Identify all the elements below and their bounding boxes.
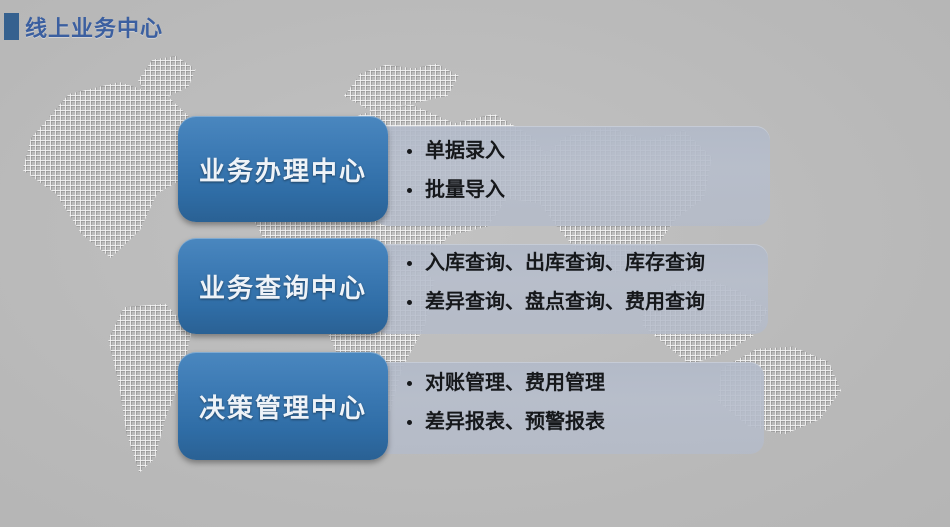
list-item: 单据录入 — [406, 138, 505, 164]
slide-title-bar: 线上业务中心 — [0, 0, 950, 54]
category-box-3[interactable]: 决策管理中心 — [178, 352, 388, 460]
title-accent-bar — [4, 13, 19, 40]
bullet-text: 对账管理、费用管理 — [425, 372, 605, 394]
bullet-list-2: 入库查询、出库查询、库存查询 差异查询、盘点查询、费用查询 — [406, 250, 705, 315]
bullet-dot-icon — [407, 420, 412, 425]
list-item: 入库查询、出库查询、库存查询 — [406, 250, 705, 276]
bullet-text: 差异查询、盘点查询、费用查询 — [425, 291, 705, 313]
page-title: 线上业务中心 — [25, 11, 163, 43]
bullet-dot-icon — [407, 188, 412, 193]
list-item: 对账管理、费用管理 — [406, 370, 605, 396]
bullet-text: 差异报表、预警报表 — [425, 411, 605, 433]
category-box-1[interactable]: 业务办理中心 — [178, 116, 388, 222]
bullet-text: 入库查询、出库查询、库存查询 — [425, 252, 705, 274]
bullet-dot-icon — [407, 381, 412, 386]
bullet-text: 单据录入 — [425, 140, 505, 162]
bullet-dot-icon — [407, 261, 412, 266]
category-box-3-label: 决策管理中心 — [199, 388, 367, 425]
list-item: 差异查询、盘点查询、费用查询 — [406, 289, 705, 315]
category-box-1-label: 业务办理中心 — [199, 151, 367, 188]
bullet-dot-icon — [407, 149, 412, 154]
bullet-list-3: 对账管理、费用管理 差异报表、预警报表 — [406, 370, 605, 435]
list-item: 批量导入 — [406, 177, 505, 203]
slide-canvas: 线上业务中心 业务办理中心 单据录入 批量导入 业务查询中心 入库查询、出库查询… — [0, 0, 950, 527]
bullet-dot-icon — [407, 300, 412, 305]
list-item: 差异报表、预警报表 — [406, 409, 605, 435]
bullet-text: 批量导入 — [425, 179, 505, 201]
category-box-2[interactable]: 业务查询中心 — [178, 238, 388, 334]
bullet-list-1: 单据录入 批量导入 — [406, 138, 505, 203]
category-box-2-label: 业务查询中心 — [199, 268, 367, 305]
